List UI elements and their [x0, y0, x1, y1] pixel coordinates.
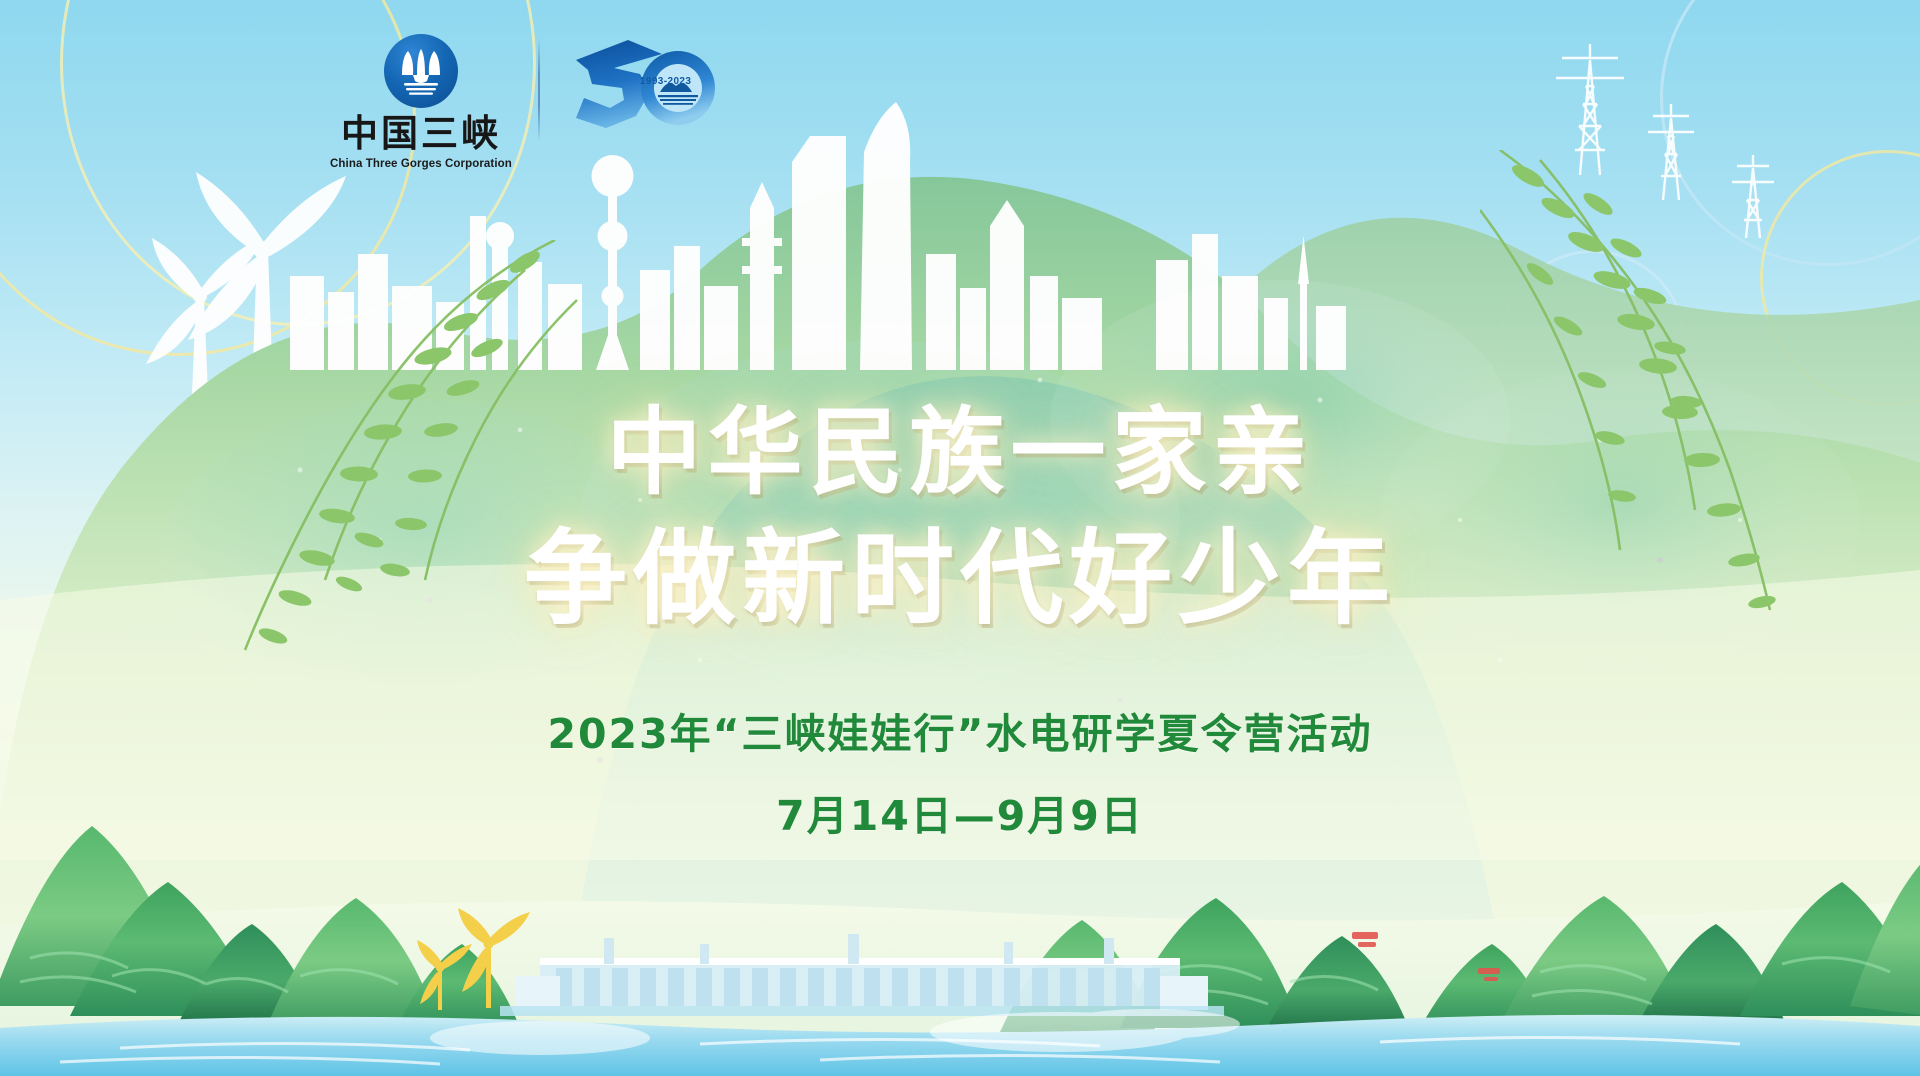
- title-block: 中华民族一家亲 争做新时代好少年 2023年“三峡娃娃行”水电研学夏令营活动 7…: [0, 400, 1920, 842]
- poster-canvas: 中国三峡 China Three Gorges Corporation: [0, 0, 1920, 1076]
- anniversary-30-icon: [566, 34, 726, 142]
- event-dates: 7月14日—9月9日: [0, 782, 1920, 842]
- title-line-2: 争做新时代好少年: [0, 522, 1920, 637]
- anniversary-logo-block: 1993-2023: [566, 34, 726, 142]
- event-subtitle: 2023年“三峡娃娃行”水电研学夏令营活动: [0, 700, 1920, 760]
- anniversary-years: 1993-2023: [640, 76, 691, 87]
- title-line-1: 中华民族一家亲: [0, 400, 1920, 506]
- brand-name-en: China Three Gorges Corporation: [330, 158, 512, 170]
- brand-name-cn: 中国三峡: [341, 115, 501, 152]
- brand-divider: [538, 38, 540, 142]
- brand-header: 中国三峡 China Three Gorges Corporation: [330, 34, 726, 170]
- three-gorges-dam-mark-icon: [384, 34, 458, 108]
- ctg-logo-block: 中国三峡 China Three Gorges Corporation: [330, 34, 512, 170]
